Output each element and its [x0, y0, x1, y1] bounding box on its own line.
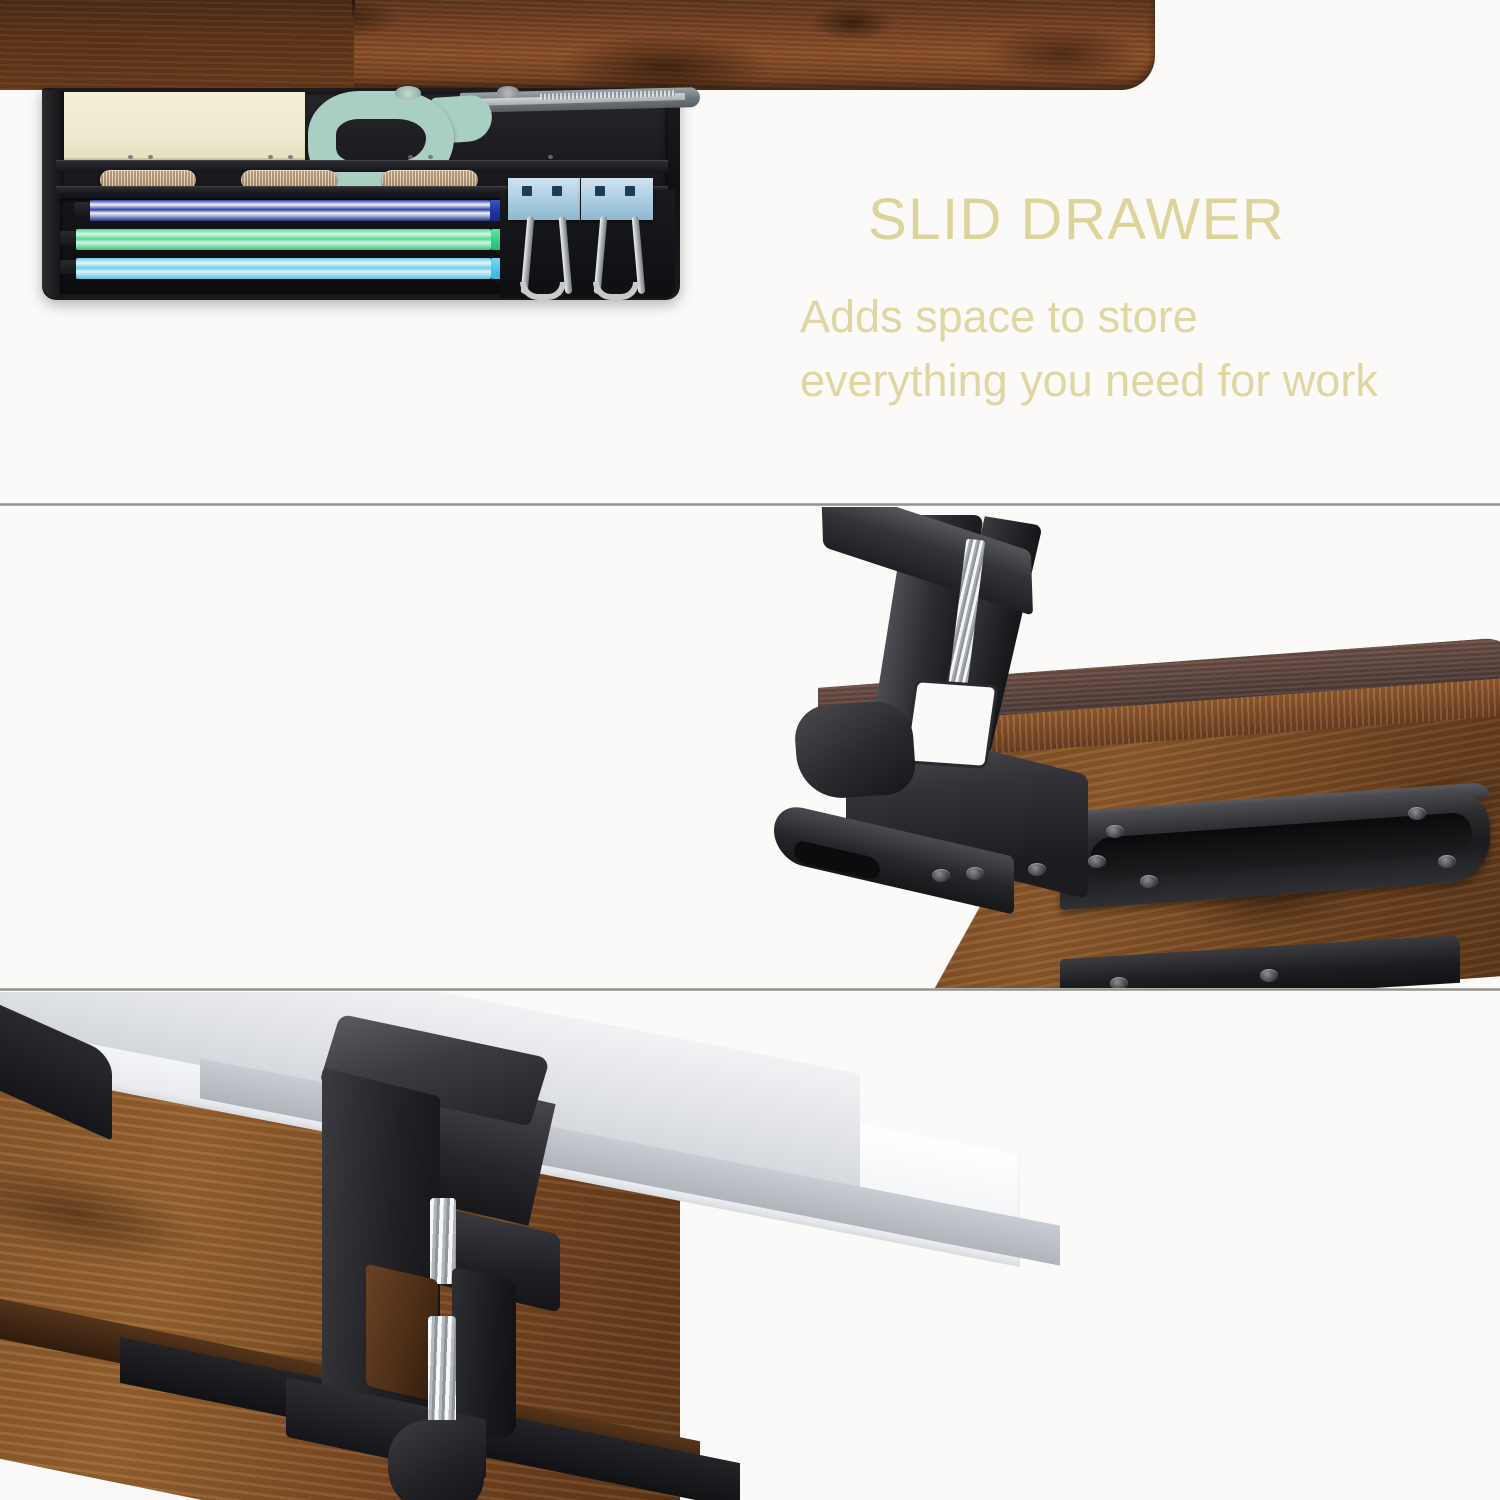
binder-clip [581, 178, 653, 220]
caption-slid-drawer: SLID DRAWER Adds space to store everythi… [868, 190, 1378, 413]
clamp-window-cutout [907, 682, 995, 765]
marker-blue [90, 200, 490, 221]
c-clamp-photo [0, 992, 760, 1500]
clamp-screw [932, 869, 950, 882]
tray-screw-dot [548, 155, 553, 159]
desktop-wood-slab-left [0, 0, 354, 90]
glide-track-photo [760, 507, 1500, 990]
clamp-thumb-knob [388, 1420, 484, 1500]
panel-smooth-glide-track: SMOOTH GLIDE TRACK Easily pulled out and… [0, 507, 1500, 990]
clamp-screw [1088, 855, 1106, 868]
tray-screw-dot [408, 155, 413, 159]
scissors-pivot [395, 86, 421, 100]
panel-c-clamp-mount: C CLAMP MOUNT Easy to install No tools r… [0, 992, 1500, 1500]
panel-divider [0, 988, 1500, 991]
scissors-pivot-screw [497, 86, 519, 98]
binder-clip [508, 178, 580, 220]
rail-screw [1408, 807, 1426, 820]
desktop-seam [352, 0, 355, 20]
sticky-note-pad [64, 92, 305, 162]
product-feature-infographic: SLID DRAWER Adds space to store everythi… [0, 0, 1500, 1500]
tray-screw-dot [148, 155, 153, 159]
caption-title-slid-drawer: SLID DRAWER [868, 190, 1378, 251]
caption-line: Adds space to store [800, 285, 1378, 349]
rail-screw [1260, 969, 1278, 982]
panel-divider [0, 503, 1500, 506]
caption-line: everything you need for work [800, 349, 1378, 413]
marker-green [76, 229, 491, 250]
clamp-screw [966, 867, 984, 880]
panel-slid-drawer: SLID DRAWER Adds space to store everythi… [0, 0, 1500, 505]
clamp-threaded-screw-lower [428, 1316, 456, 1434]
clamp-screw [1028, 863, 1046, 876]
tray-screw-dot [268, 155, 273, 159]
marker-cyan [76, 258, 491, 279]
tray-screw-dot [428, 155, 433, 159]
clamp-thumb-knob [793, 699, 917, 801]
rail-screw [1106, 825, 1124, 838]
rail-screw [1438, 855, 1456, 868]
tray-screw-dot [128, 155, 133, 159]
drawer-photo [0, 0, 740, 330]
tray-screw-dot [288, 155, 293, 159]
rail-screw [1140, 875, 1158, 888]
